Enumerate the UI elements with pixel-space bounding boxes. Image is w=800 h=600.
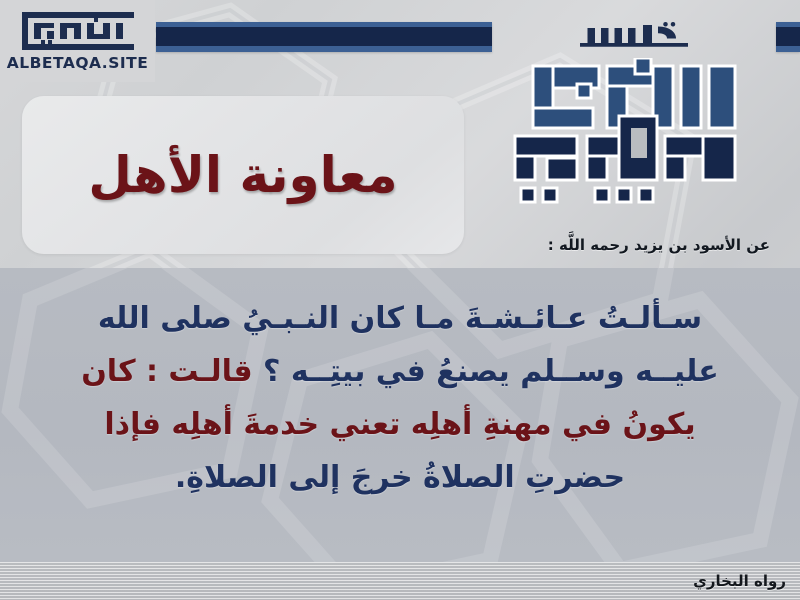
hadith-line-2-navy: عليــه وســلم يصنعُ في بيتِــه ؟ (253, 354, 719, 389)
hadith-line-2: عليــه وســلم يصنعُ في بيتِــه ؟ قالـت :… (42, 345, 758, 398)
brand-site-name: ALBETAQA.SITE (7, 54, 149, 72)
brand-logo[interactable]: ALBETAQA.SITE (0, 0, 155, 82)
title-plate: معاونة الأهل (22, 96, 464, 254)
hadith-line-4: حضرتِ الصلاةُ خرجَ إلى الصلاةِ. (42, 451, 758, 504)
footer-bar: رواه البخاري (0, 562, 800, 600)
series-logo[interactable] (484, 0, 784, 216)
hadith-line-2-red: قالـت : كان (81, 354, 252, 389)
hadith-line-1: سـألـتُ عـائـشـةَ مـا كان النـبـيُ صلى ا… (42, 292, 758, 345)
card-canvas: ALBETAQA.SITE (0, 0, 800, 600)
header-rule-left (156, 22, 492, 52)
albetaqa-kufic-logo-icon (19, 10, 137, 52)
hadith-panel: سـألـتُ عـائـشـةَ مـا كان النـبـيُ صلى ا… (0, 268, 800, 562)
narrator-attribution: عن الأسود بن يزيد رحمه اللَّه : (548, 236, 770, 254)
sunan-nabawiyya-kufic-icon (503, 58, 765, 212)
page-title: معاونة الأهل (88, 148, 397, 203)
hadith-text: سـألـتُ عـائـشـةَ مـا كان النـبـيُ صلى ا… (0, 268, 800, 562)
hadith-line-3: يكونُ في مهنةِ أهلِه تعني خدمةَ أهلِه فإ… (42, 398, 758, 451)
series-word (574, 22, 694, 52)
hadith-source: رواه البخاري (693, 572, 786, 590)
